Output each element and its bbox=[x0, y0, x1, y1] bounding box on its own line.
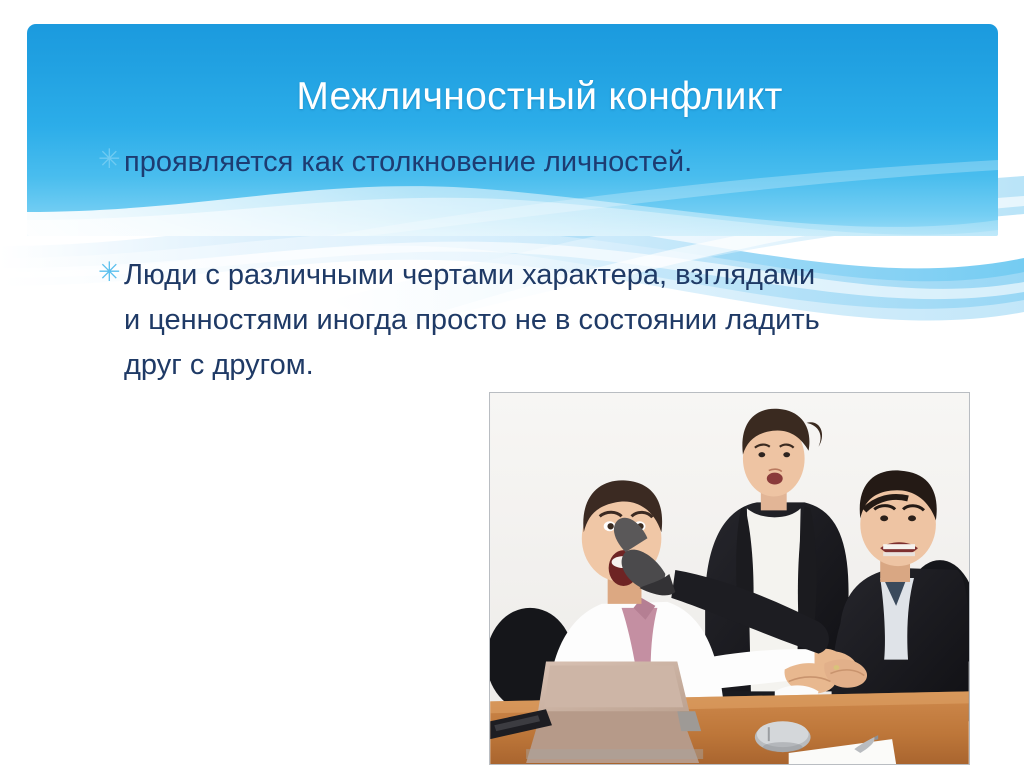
title-banner: Межличностный конфликт bbox=[27, 24, 998, 236]
asterisk-bullet-icon: ✳ bbox=[98, 140, 124, 180]
asterisk-bullet-icon: ✳ bbox=[98, 253, 124, 293]
list-item-label: Люди с различными чертами характера, взг… bbox=[124, 253, 838, 388]
slide-title: Межличностный конфликт bbox=[87, 76, 992, 119]
slide-photo bbox=[489, 392, 970, 765]
banner-wave-decoration bbox=[27, 24, 998, 236]
list-item-label: проявляется как столкновение личностей. bbox=[124, 140, 898, 184]
list-item: ✳ проявляется как столкновение личностей… bbox=[98, 140, 898, 184]
presentation-slide: Межличностный конфликт ✳ проявляется как… bbox=[0, 0, 1024, 768]
office-conflict-photo-illustration bbox=[490, 393, 969, 764]
list-item: ✳ Люди с различными чертами характера, в… bbox=[98, 253, 838, 388]
